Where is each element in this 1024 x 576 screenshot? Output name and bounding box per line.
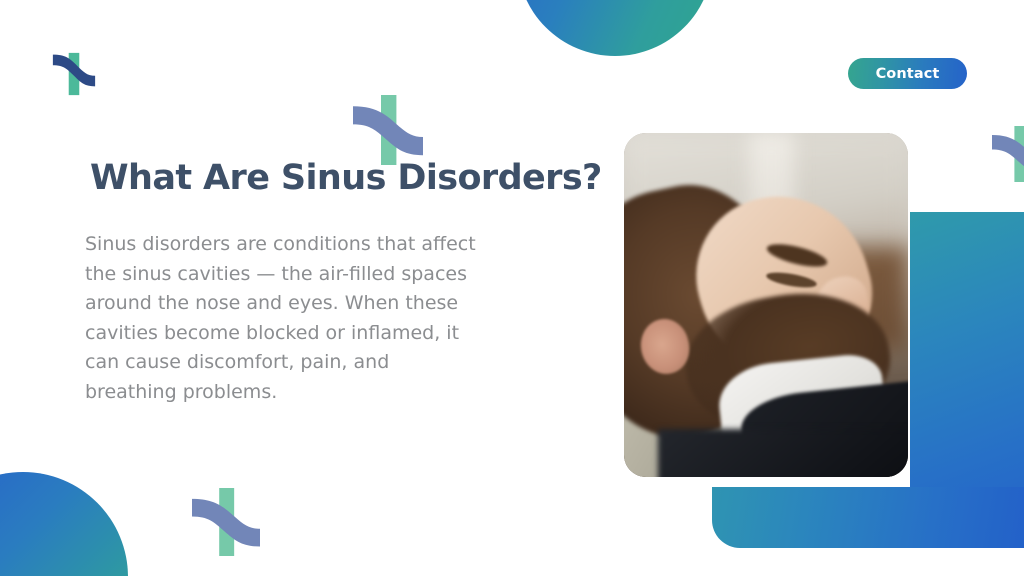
medical-cross-icon	[192, 487, 260, 557]
medical-cross-icon	[992, 118, 1024, 190]
slide-canvas: What Are Sinus Disorders? Sinus disorder…	[0, 0, 1024, 576]
photo-jacket-lower	[658, 429, 908, 477]
medical-cross-icon	[349, 95, 427, 165]
body-paragraph: Sinus disorders are conditions that affe…	[85, 230, 485, 407]
decorative-circle-bottom-left	[0, 472, 128, 576]
contact-button[interactable]: Contact	[848, 58, 967, 89]
medical-cross-icon	[52, 52, 96, 96]
decorative-circle-top	[517, 0, 713, 56]
page-title: What Are Sinus Disorders?	[90, 158, 610, 198]
patient-photo	[624, 133, 908, 477]
l-block-horizontal-arm	[712, 487, 1024, 548]
